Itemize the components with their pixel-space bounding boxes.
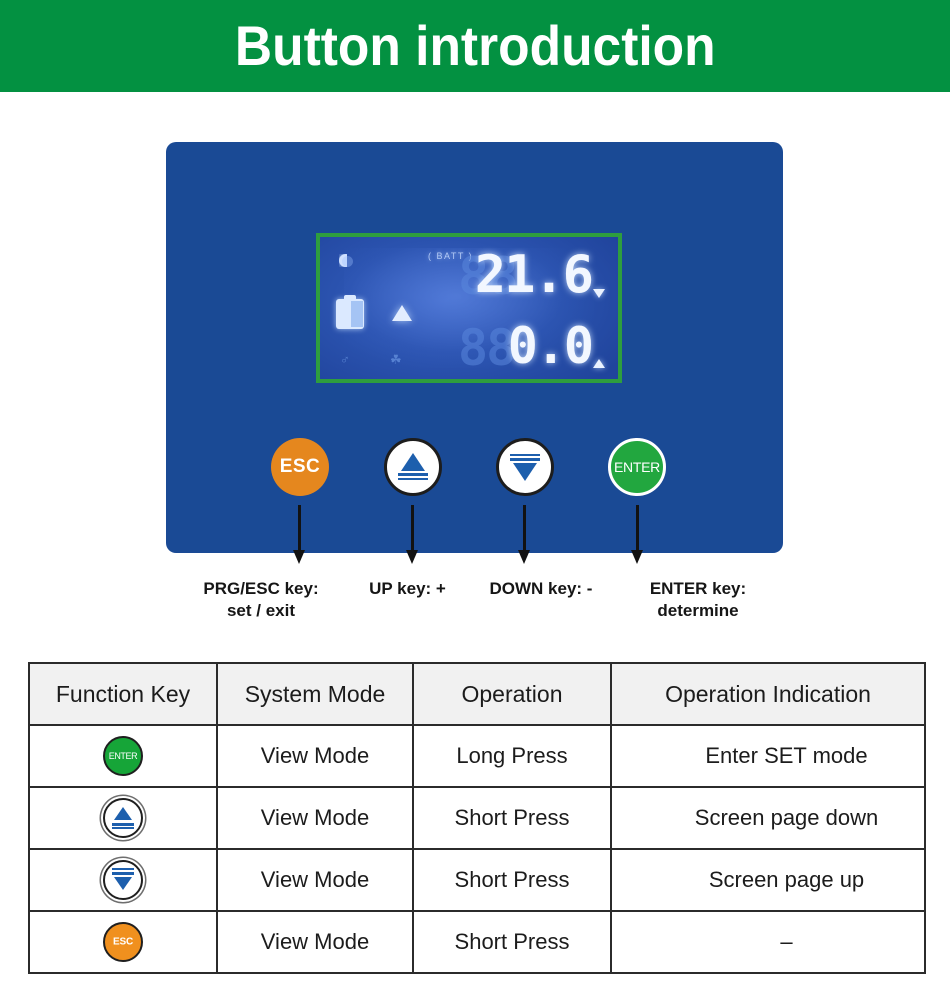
callout-arrow-enter [636,505,639,551]
esc-key-icon-label: ESC [105,937,141,948]
table-header-row: Function Key System Mode Operation Opera… [29,663,925,725]
table-cell-indication: – [611,911,925,973]
key-caption-down: DOWN key: - [466,578,616,600]
table-header-operation: Operation [413,663,611,725]
key-caption-up-line1: UP key: + [345,578,470,600]
function-key-table-wrapper: Function Key System Mode Operation Opera… [28,662,924,974]
table-row: View Mode Short Press Screen page down [29,787,925,849]
callout-arrow-down [523,505,526,551]
down-arrow-icon [510,453,540,481]
table-cell-indication: Enter SET mode [611,725,925,787]
table-cell-system-mode: View Mode [217,725,413,787]
key-caption-enter-line2: determine [615,600,781,622]
battery-icon-shade [351,301,363,327]
table-cell-indication: Screen page down [611,787,925,849]
enter-button-label: ENTER [614,459,660,475]
table-row: ESC View Mode Short Press – [29,911,925,973]
table-header-system-mode: System Mode [217,663,413,725]
table-cell-operation: Short Press [413,849,611,911]
key-caption-esc-line1: PRG/ESC key: [176,578,346,600]
table-cell-system-mode: View Mode [217,787,413,849]
page-header-banner: Button introduction [0,0,950,92]
table-cell-function-key [29,787,217,849]
table-header-operation-indication: Operation Indication [611,663,925,725]
esc-button[interactable]: ESC [271,438,329,496]
table-header-function-key: Function Key [29,663,217,725]
up-key-icon [103,798,143,838]
fan-icon: ☘ [390,353,402,366]
enter-key-icon-label: ENTER [105,751,141,761]
table-row: View Mode Short Press Screen page up [29,849,925,911]
table-cell-function-key [29,849,217,911]
key-caption-up: UP key: + [345,578,470,600]
down-arrow-button[interactable] [496,438,554,496]
callout-arrow-up [411,505,414,551]
page-title: Button introduction [235,18,716,74]
key-caption-enter-line1: ENTER key: [615,578,781,600]
triangle-up-icon [392,305,412,321]
table-row: ENTER View Mode Long Press Enter SET mod… [29,725,925,787]
bulb-icon: ♂ [340,353,350,366]
table-cell-system-mode: View Mode [217,911,413,973]
moon-icon-halo [342,256,353,267]
function-key-table: Function Key System Mode Operation Opera… [28,662,926,974]
key-caption-esc-line2: set / exit [176,600,346,622]
key-caption-esc: PRG/ESC key: set / exit [176,578,346,623]
up-arrow-icon [398,453,428,481]
table-cell-system-mode: View Mode [217,849,413,911]
up-arrow-indicator-icon [593,359,605,368]
up-arrow-button[interactable] [384,438,442,496]
lcd-display: ( BATT ) ♂ ☘ 88 21.6 88 0.0 [316,233,622,383]
esc-button-label: ESC [280,456,321,478]
table-cell-indication: Screen page up [611,849,925,911]
table-cell-operation: Long Press [413,725,611,787]
table-cell-function-key: ENTER [29,725,217,787]
lcd-top-value: 21.6 [475,249,592,301]
enter-button[interactable]: ENTER [608,438,666,496]
enter-key-icon: ENTER [103,736,143,776]
table-cell-operation: Short Press [413,787,611,849]
key-caption-enter: ENTER key: determine [615,578,781,623]
lcd-bottom-ghost-digits: 88 [458,323,514,373]
table-cell-operation: Short Press [413,911,611,973]
callout-arrow-esc [298,505,301,551]
esc-key-icon: ESC [103,922,143,962]
table-cell-function-key: ESC [29,911,217,973]
key-caption-down-line1: DOWN key: - [466,578,616,600]
down-key-icon [103,860,143,900]
down-arrow-indicator-icon [593,289,605,298]
lcd-bottom-value: 0.0 [508,321,592,371]
